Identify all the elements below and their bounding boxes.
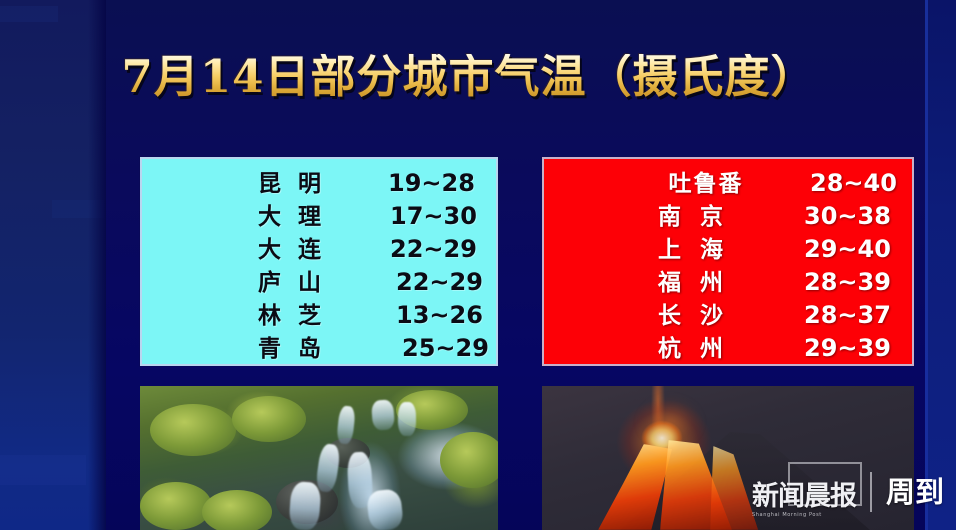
table-row: 青岛 25~29 xyxy=(142,332,496,365)
photo-detail xyxy=(150,404,236,456)
table-row: 上海 29~40 xyxy=(544,233,912,266)
city-name: 吐鲁番 xyxy=(544,168,796,201)
temperature-range: 19~28 xyxy=(382,167,475,200)
cool-cities-table: 昆明 19~28 大理 17~30 大连 22~29 庐山 22~29 林芝 1… xyxy=(140,157,498,366)
city-name: 林芝 xyxy=(142,300,382,333)
city-name: 上海 xyxy=(544,234,790,267)
photo-detail xyxy=(398,402,416,436)
photo-detail xyxy=(202,490,272,530)
photo-detail xyxy=(371,399,395,430)
brand-name: 周到 xyxy=(886,478,944,507)
temperature-range: 13~26 xyxy=(382,299,483,332)
watermark-divider xyxy=(870,472,872,512)
table-row: 林芝 13~26 xyxy=(142,299,496,332)
temperature-range: 22~29 xyxy=(382,266,483,299)
photo-detail xyxy=(232,396,306,442)
city-name: 大理 xyxy=(142,201,382,234)
table-row: 长沙 28~37 xyxy=(544,299,912,332)
watermark: 新闻晨报 Shanghai Morning Post 周到 xyxy=(752,466,944,518)
table-row: 南京 30~38 xyxy=(544,200,912,233)
logo-chinese-name: 新闻晨报 xyxy=(752,483,856,510)
hot-cities-table: 吐鲁番 28~40 南京 30~38 上海 29~40 福州 28~39 长沙 … xyxy=(542,157,914,366)
slide-title: 7月14日部分城市气温（摄氏度） xyxy=(0,54,956,99)
temperature-range: 29~40 xyxy=(790,233,891,266)
city-name: 昆明 xyxy=(142,168,382,201)
temperature-range: 30~38 xyxy=(790,200,891,233)
table-row: 吐鲁番 28~40 xyxy=(544,167,912,200)
table-row: 杭州 29~39 xyxy=(544,332,912,365)
table-row: 大连 22~29 xyxy=(142,233,496,266)
slide-screen: 7月14日部分城市气温（摄氏度） 昆明 19~28 大理 17~30 大连 22… xyxy=(0,0,956,530)
table-row: 昆明 19~28 xyxy=(142,167,496,200)
city-name: 杭州 xyxy=(544,333,790,366)
photo-detail xyxy=(140,482,212,530)
city-name: 长沙 xyxy=(544,300,790,333)
city-name: 福州 xyxy=(544,267,790,300)
background-artifact xyxy=(52,200,104,218)
temperature-range: 28~37 xyxy=(790,299,891,332)
photo-detail xyxy=(440,432,498,488)
photo-detail xyxy=(366,488,404,530)
photo-detail xyxy=(315,443,341,493)
temperature-range: 22~29 xyxy=(382,233,477,266)
news-logo: 新闻晨报 Shanghai Morning Post xyxy=(752,466,856,518)
city-name: 南京 xyxy=(544,201,790,234)
table-row: 庐山 22~29 xyxy=(142,266,496,299)
hot-cities-rows: 吐鲁番 28~40 南京 30~38 上海 29~40 福州 28~39 长沙 … xyxy=(544,159,912,365)
photo-detail xyxy=(288,481,321,530)
table-row: 大理 17~30 xyxy=(142,200,496,233)
cool-cities-rows: 昆明 19~28 大理 17~30 大连 22~29 庐山 22~29 林芝 1… xyxy=(142,159,496,365)
city-name: 大连 xyxy=(142,234,382,267)
temperature-range: 28~40 xyxy=(796,167,897,200)
temperature-range: 29~39 xyxy=(790,332,891,365)
city-name: 青岛 xyxy=(142,333,382,366)
background-artifact xyxy=(0,455,86,485)
table-row: 福州 28~39 xyxy=(544,266,912,299)
city-name: 庐山 xyxy=(142,267,382,300)
logo-english-name: Shanghai Morning Post xyxy=(752,512,856,518)
temperature-range: 28~39 xyxy=(790,266,891,299)
temperature-range: 17~30 xyxy=(382,200,477,233)
waterfall-photo xyxy=(140,386,498,530)
background-artifact xyxy=(0,6,58,22)
temperature-range: 25~29 xyxy=(382,332,489,365)
